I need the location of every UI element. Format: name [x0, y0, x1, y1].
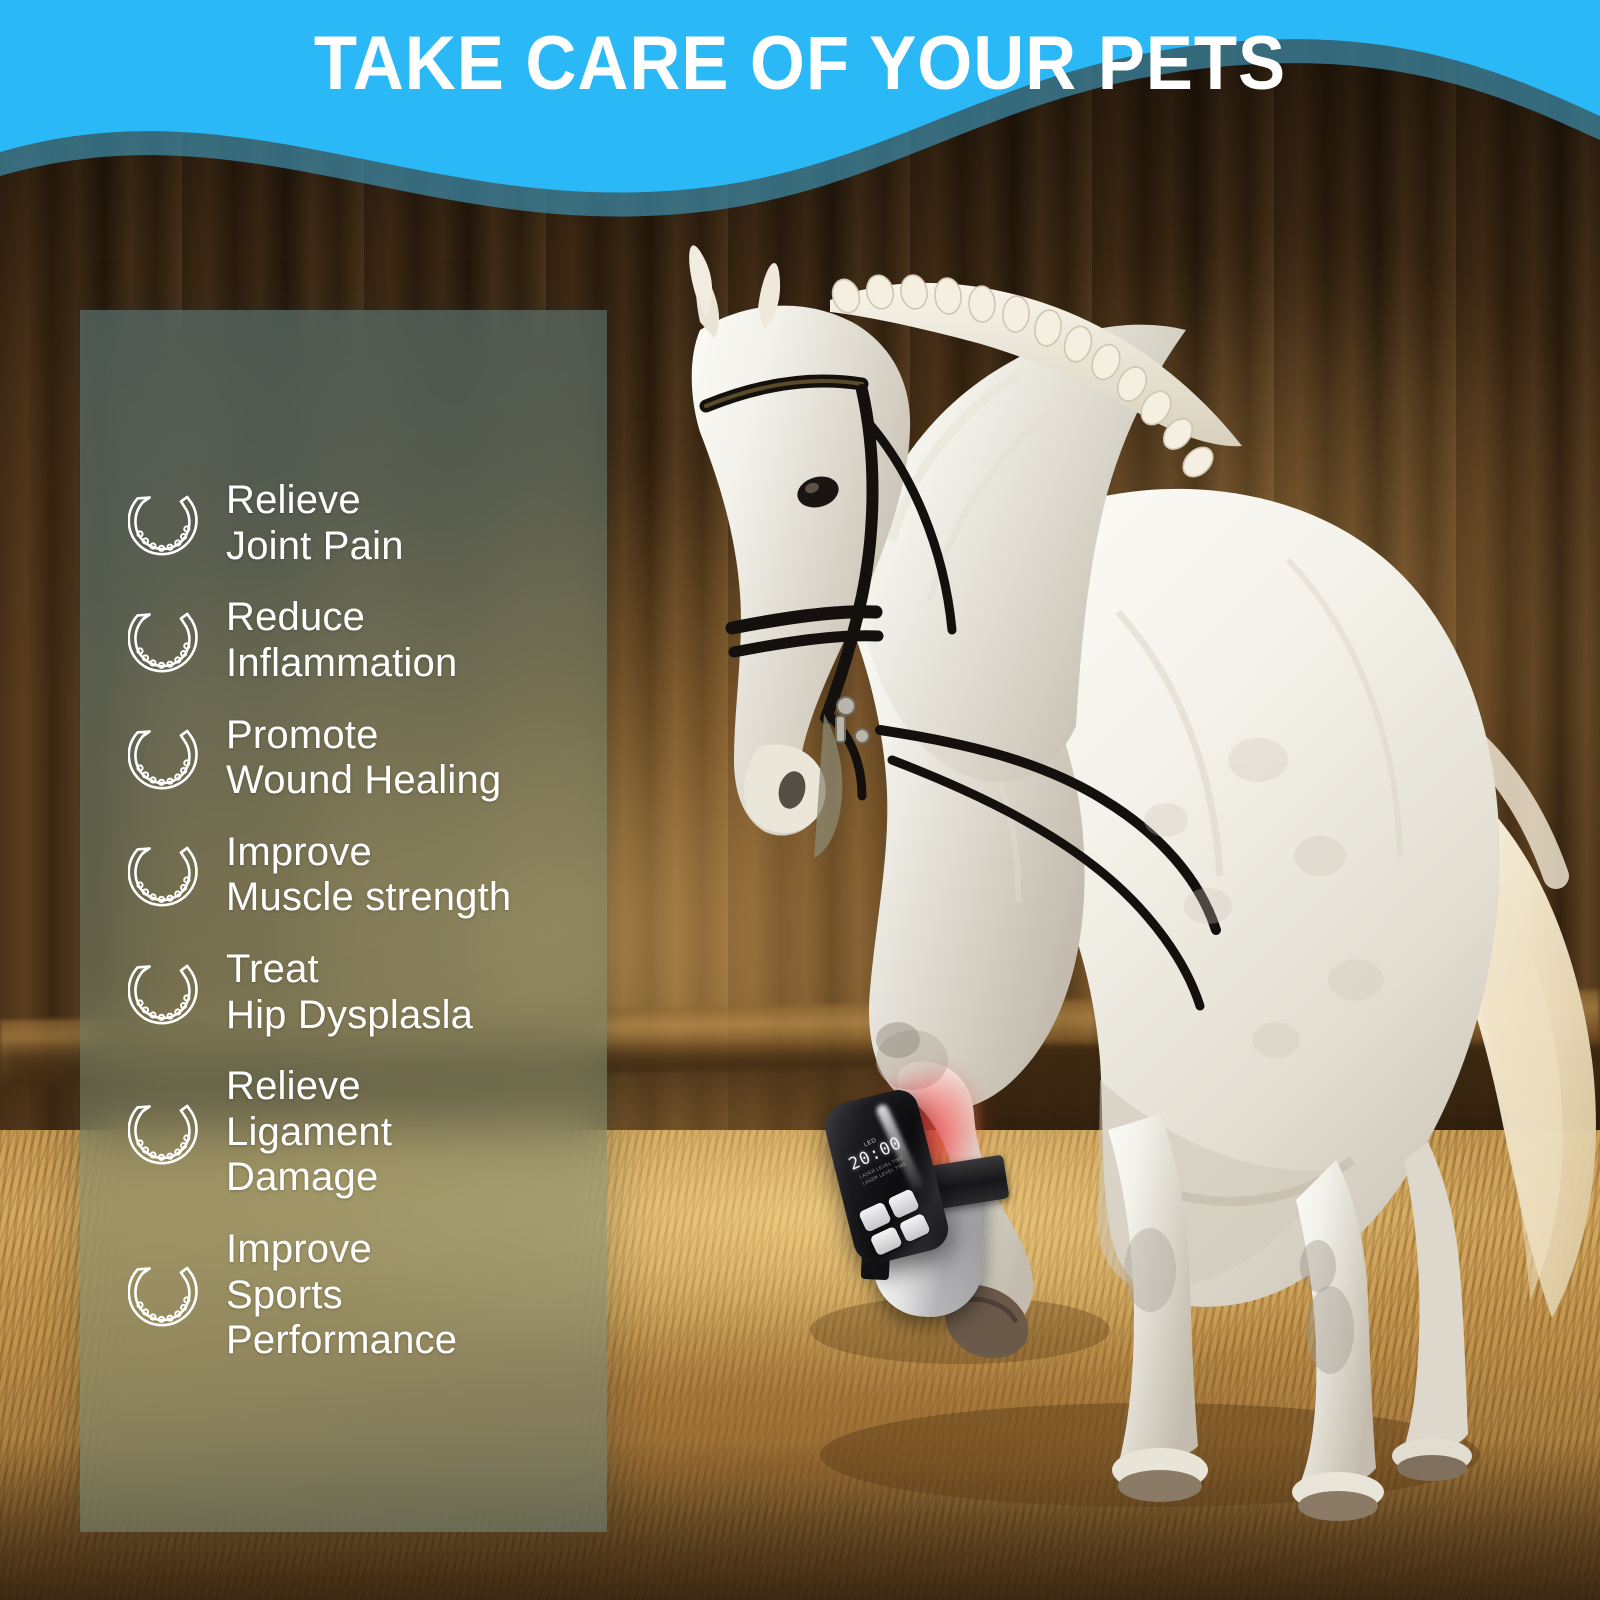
- feature-item-promote-wound-healing: Promote Wound Healing: [128, 713, 585, 804]
- feature-item-label: Promote Wound Healing: [226, 713, 501, 804]
- horseshoe-icon: [128, 722, 202, 794]
- device-key-1[interactable]: [858, 1202, 891, 1233]
- page-title: TAKE CARE OF YOUR PETS: [56, 20, 1544, 107]
- feature-item-reduce-inflammation: Reduce Inflammation: [128, 595, 585, 686]
- laser-therapy-device[interactable]: LED 20:00 LASER LEVEL TIME LASER LEVEL T…: [832, 1087, 1054, 1328]
- feature-item-label: Reduce Inflammation: [226, 595, 457, 686]
- device-screen: LED 20:00 LASER LEVEL TIME LASER LEVEL T…: [842, 1128, 913, 1190]
- horseshoe-icon: [128, 839, 202, 911]
- poster: LED 20:00 LASER LEVEL TIME LASER LEVEL T…: [0, 0, 1600, 1600]
- header-banner: TAKE CARE OF YOUR PETS: [0, 0, 1600, 230]
- device-key-3[interactable]: [869, 1226, 902, 1257]
- feature-item-label: Improve Muscle strength: [226, 830, 511, 921]
- horseshoe-icon: [128, 957, 202, 1029]
- feature-item-relieve-joint-pain: Relieve Joint Pain: [128, 478, 585, 569]
- horseshoe-icon: [128, 1259, 202, 1331]
- feature-list-panel: Relieve Joint Pain Reduce Inflammation: [80, 310, 607, 1532]
- feature-item-treat-hip-dysplasla: Treat Hip Dysplasla: [128, 947, 585, 1038]
- feature-item-label: Relieve Ligament Damage: [226, 1064, 392, 1201]
- feature-item-improve-muscle-strength: Improve Muscle strength: [128, 830, 585, 921]
- feature-item-label: Relieve Joint Pain: [226, 478, 404, 569]
- device-keypad[interactable]: [858, 1188, 931, 1256]
- horseshoe-icon: [128, 1097, 202, 1169]
- horseshoe-icon: [128, 605, 202, 677]
- device-key-4[interactable]: [898, 1212, 931, 1243]
- feature-item-label: Improve Sports Performance: [226, 1227, 457, 1364]
- horseshoe-icon: [128, 488, 202, 560]
- feature-item-improve-sports-performance: Improve Sports Performance: [128, 1227, 585, 1364]
- feature-item-relieve-ligament-damage: Relieve Ligament Damage: [128, 1064, 585, 1201]
- device-key-2[interactable]: [887, 1188, 920, 1219]
- feature-item-label: Treat Hip Dysplasla: [226, 947, 473, 1038]
